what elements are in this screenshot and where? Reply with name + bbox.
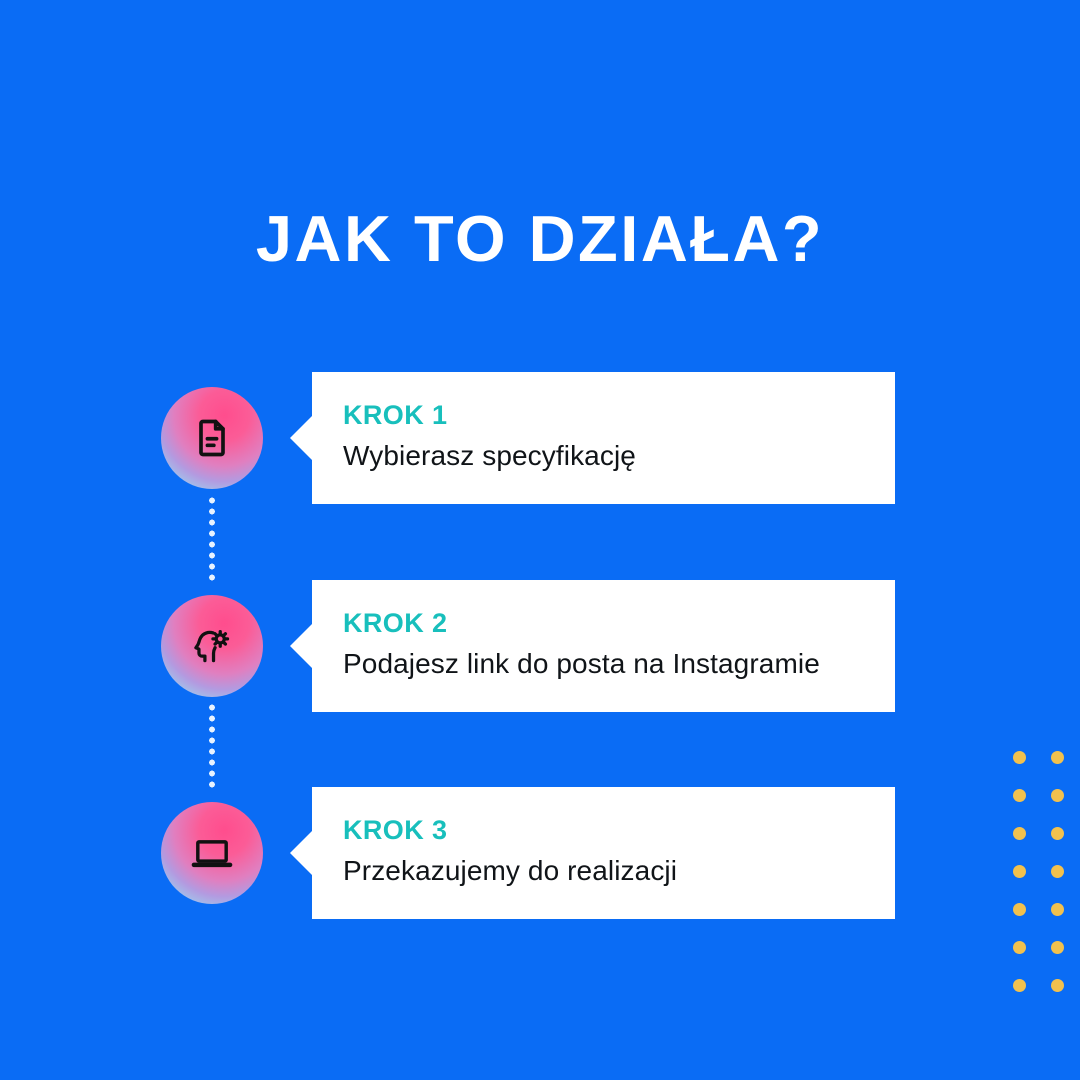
decorative-dot <box>1013 865 1026 878</box>
decorative-dot <box>1051 827 1064 840</box>
decorative-dot <box>1013 979 1026 992</box>
step-card-1[interactable]: KROK 1 Wybierasz specyfikację <box>312 372 895 504</box>
decorative-dot <box>1051 751 1064 764</box>
step-kicker: KROK 1 <box>343 402 875 429</box>
step-item: KROK 1 Wybierasz specyfikację <box>0 372 1080 504</box>
step-card-3[interactable]: KROK 3 Przekazujemy do realizacji <box>312 787 895 919</box>
card-arrow-notch <box>290 416 312 460</box>
step-description: Wybierasz specyfikację <box>343 441 875 472</box>
decorative-dot <box>1013 827 1026 840</box>
step-node-3 <box>161 802 263 904</box>
step-kicker: KROK 2 <box>343 610 875 637</box>
card-body: KROK 2 Podajesz link do posta na Instagr… <box>343 610 875 680</box>
decorative-dot <box>1013 903 1026 916</box>
decorative-dot <box>1051 789 1064 802</box>
step-card-2[interactable]: KROK 2 Podajesz link do posta na Instagr… <box>312 580 895 712</box>
step-kicker: KROK 3 <box>343 817 875 844</box>
laptop-icon <box>189 830 235 876</box>
card-arrow-notch <box>290 831 312 875</box>
step-node-2 <box>161 595 263 697</box>
steps-list: KROK 1 Wybierasz specyfikację <box>0 0 1080 1080</box>
card-arrow-notch <box>290 624 312 668</box>
decorative-dot <box>1051 865 1064 878</box>
decorative-dot <box>1013 941 1026 954</box>
step-item: KROK 3 Przekazujemy do realizacji <box>0 787 1080 919</box>
head-gear-icon <box>189 623 235 669</box>
connector-dotted-line-2 <box>209 702 215 790</box>
decorative-dot <box>1013 751 1026 764</box>
decorative-dot-grid <box>1013 751 1064 992</box>
card-body: KROK 3 Przekazujemy do realizacji <box>343 817 875 887</box>
decorative-dot <box>1051 903 1064 916</box>
step-item: KROK 2 Podajesz link do posta na Instagr… <box>0 580 1080 712</box>
step-description: Przekazujemy do realizacji <box>343 856 875 887</box>
card-body: KROK 1 Wybierasz specyfikację <box>343 402 875 472</box>
poster-canvas: JAK TO DZIAŁA? KROK 1 <box>0 0 1080 1080</box>
step-description: Podajesz link do posta na Instagramie <box>343 649 875 680</box>
decorative-dot <box>1051 979 1064 992</box>
document-icon <box>190 416 234 460</box>
decorative-dot <box>1051 941 1064 954</box>
step-node-1 <box>161 387 263 489</box>
decorative-dot <box>1013 789 1026 802</box>
connector-dotted-line-1 <box>209 495 215 583</box>
